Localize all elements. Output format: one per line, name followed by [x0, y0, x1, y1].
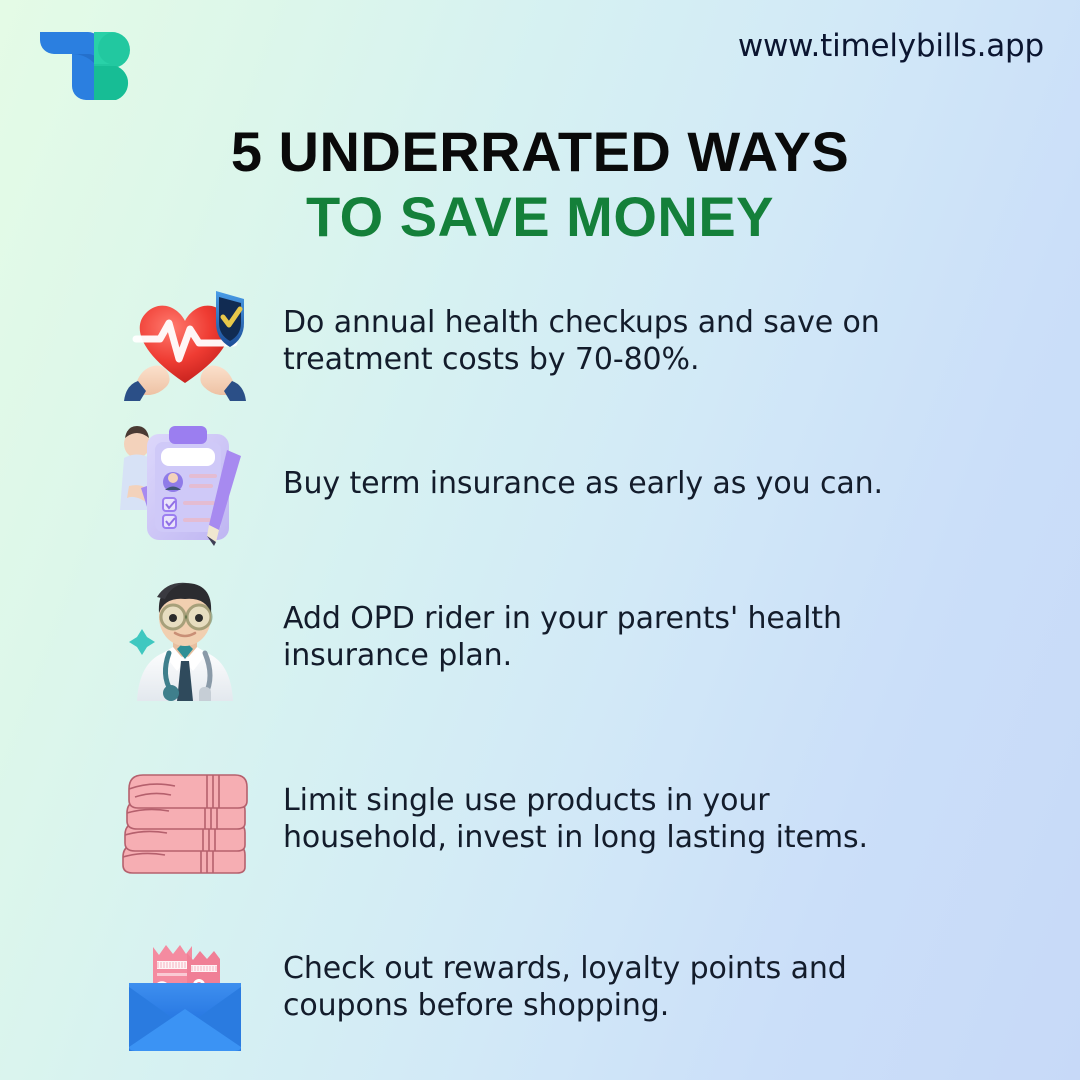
list-item: Buy term insurance as early as you can. [0, 424, 1080, 544]
heart-shield-icon [105, 282, 265, 402]
list-item-text: Check out rewards, loyalty points and co… [283, 951, 923, 1024]
insurance-clipboard-icon [105, 424, 265, 544]
list-item: Limit single use products in your househ… [0, 760, 1080, 880]
list-item-text: Do annual health checkups and save on tr… [283, 305, 923, 378]
list-item-text: Buy term insurance as early as you can. [283, 466, 883, 503]
doctor-icon [105, 578, 265, 698]
list-item-text: Add OPD rider in your parents' health in… [283, 601, 923, 674]
page-title: 5 UNDERRATED WAYS TO SAVE MONEY [0, 122, 1080, 249]
title-line-1: 5 UNDERRATED WAYS [0, 122, 1080, 182]
list-item: Do annual health checkups and save on tr… [0, 282, 1080, 402]
list-item: Add OPD rider in your parents' health in… [0, 578, 1080, 698]
coupon-envelope-icon [105, 928, 265, 1048]
timelybills-logo[interactable] [36, 26, 148, 106]
list-item-text: Limit single use products in your househ… [283, 783, 923, 856]
list-item: Check out rewards, loyalty points and co… [0, 928, 1080, 1048]
website-url[interactable]: www.timelybills.app [738, 28, 1044, 64]
tb-logo-icon [36, 26, 148, 106]
title-line-2: TO SAVE MONEY [0, 186, 1080, 249]
header: www.timelybills.app [0, 0, 1080, 118]
folded-towels-icon [105, 760, 265, 880]
